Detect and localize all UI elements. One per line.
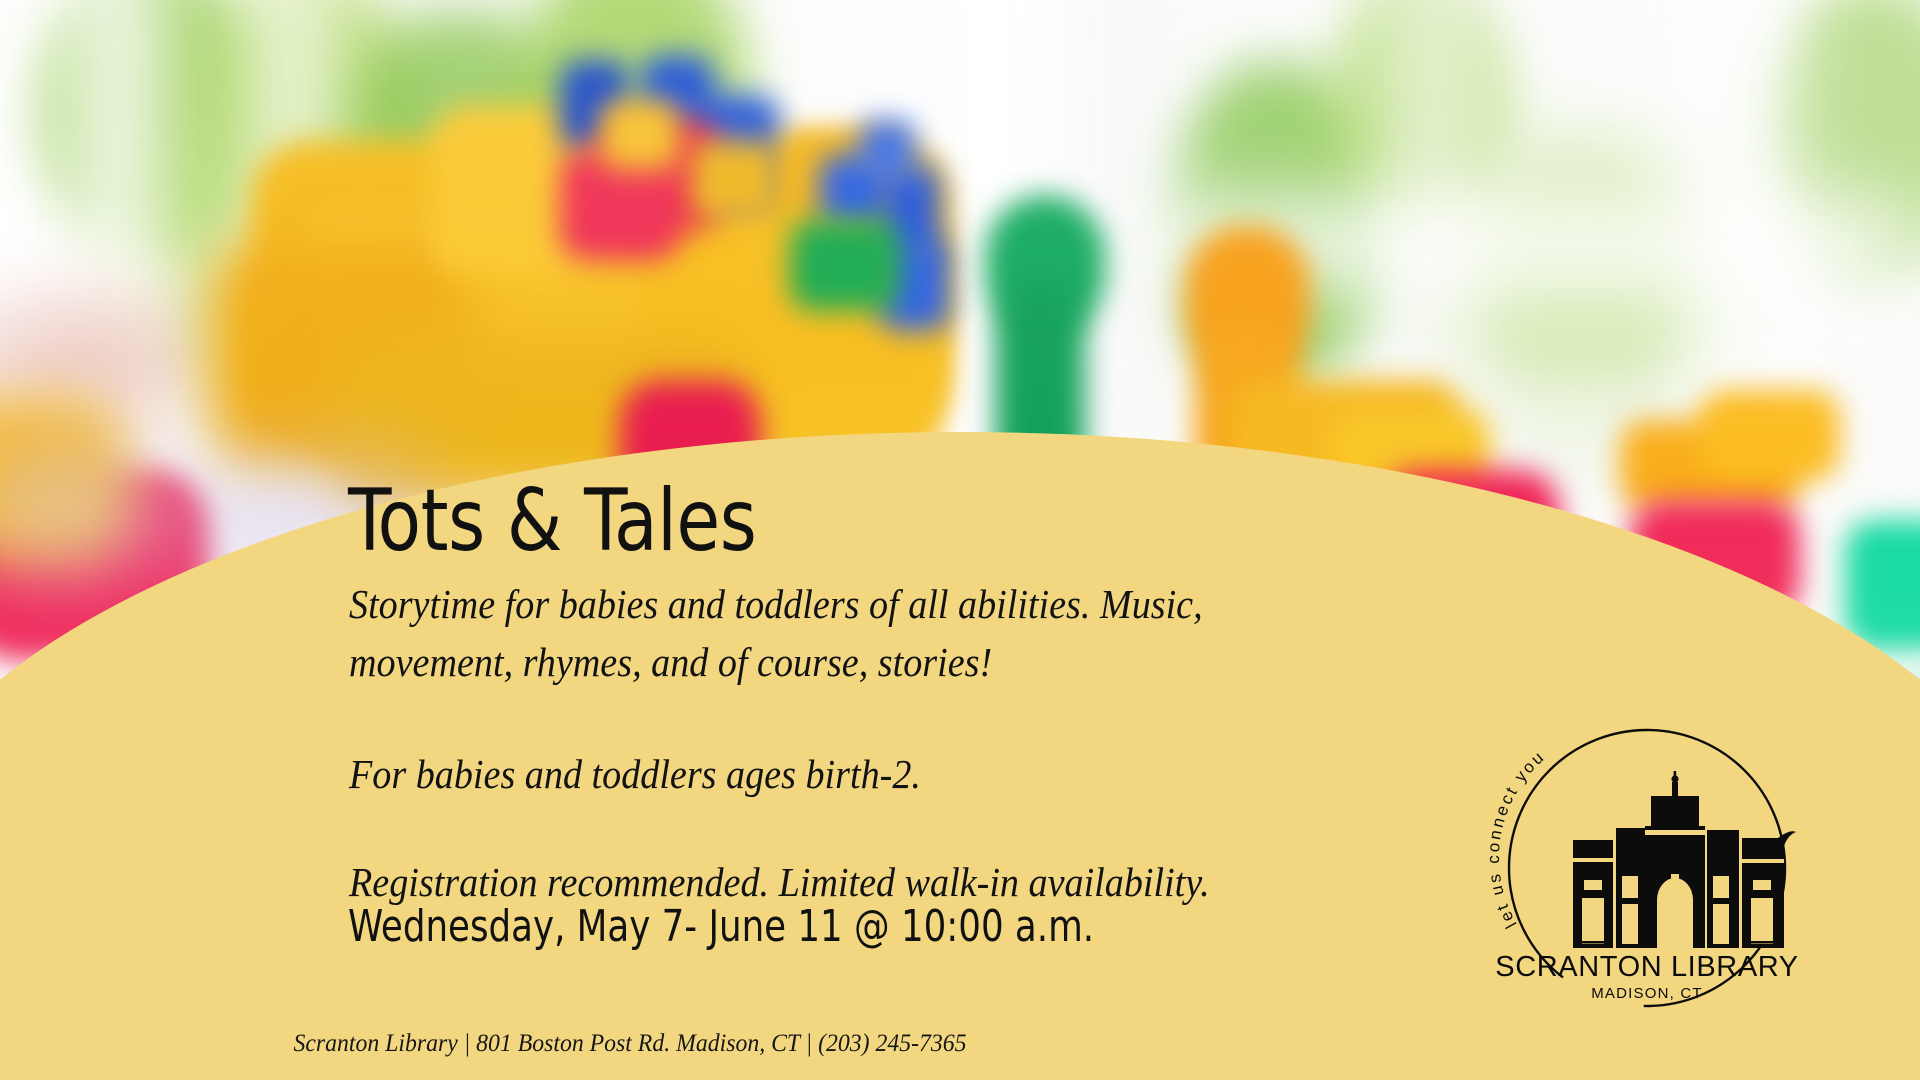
schedule-line: Wednesday, May 7- June 11 @ 10:00 a.m.	[348, 905, 1094, 949]
library-building-icon	[1573, 771, 1796, 948]
description-line-1: Storytime for babies and toddlers of all…	[349, 575, 1391, 633]
logo-tagline: let us connect you	[1487, 746, 1549, 931]
paragraph-spacer-2	[349, 803, 1469, 853]
scranton-library-logo: let us connect you	[1487, 708, 1807, 1028]
age-range-line: For babies and toddlers ages birth-2.	[349, 745, 1391, 803]
logo-wordmark: SCRANTON LIBRARY	[1495, 951, 1798, 983]
description-block: Storytime for babies and toddlers of all…	[349, 575, 1469, 911]
page-title: Tots & Tales	[348, 478, 756, 564]
paragraph-spacer-1	[349, 691, 1469, 745]
footer-contact: Scranton Library | 801 Boston Post Rd. M…	[32, 1030, 1229, 1058]
logo-location: MADISON, CT	[1591, 985, 1703, 1002]
flyer-canvas: Tots & Tales Storytime for babies and to…	[0, 0, 1920, 1080]
description-line-2: movement, rhymes, and of course, stories…	[349, 633, 1391, 691]
